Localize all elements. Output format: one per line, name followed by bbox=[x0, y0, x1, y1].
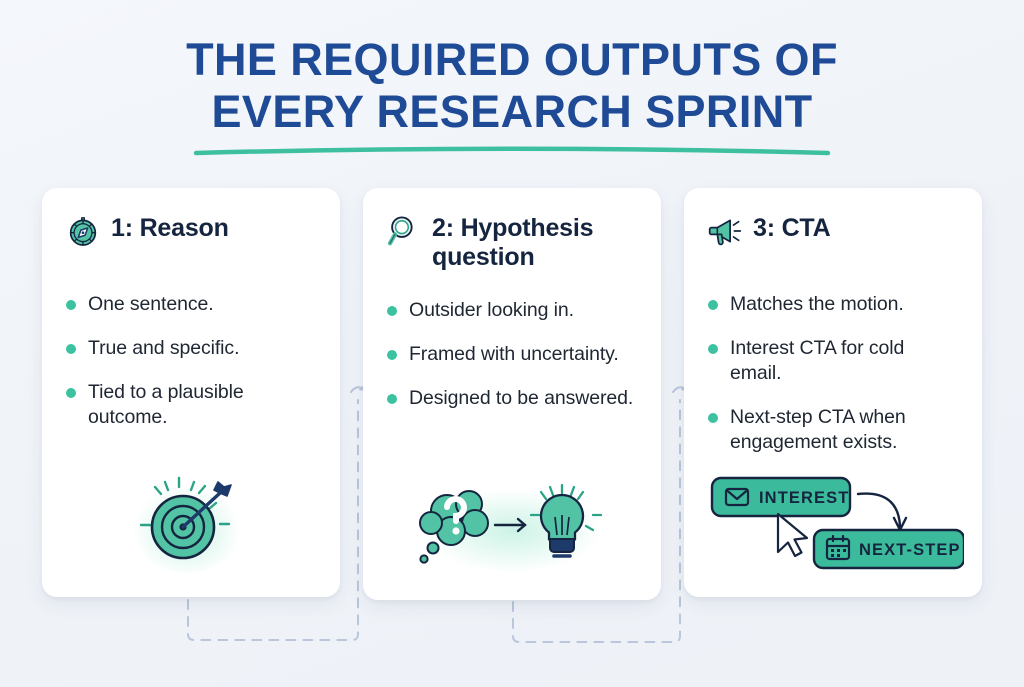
bullet-dot-icon bbox=[66, 388, 76, 398]
cards-row: 1: Reason One sentence. True and specifi… bbox=[42, 188, 982, 600]
cta-buttons-icon: INTEREST bbox=[702, 468, 964, 585]
bullet-text: Designed to be answered. bbox=[409, 386, 633, 411]
bullet-list: One sentence. True and specific. Tied to… bbox=[66, 292, 316, 430]
list-item: Tied to a plausible outcome. bbox=[66, 380, 316, 430]
cursor-icon bbox=[778, 514, 807, 556]
page-title-line-1: THE REQUIRED OUTPUTS OF bbox=[0, 34, 1024, 86]
card-reason[interactable]: 1: Reason One sentence. True and specifi… bbox=[42, 188, 340, 597]
flow-arrow-icon bbox=[858, 493, 906, 529]
bullet-dot-icon bbox=[708, 413, 718, 423]
compass-icon bbox=[66, 214, 100, 248]
card-header: 1: Reason bbox=[66, 212, 316, 266]
bullet-list: Outsider looking in. Framed with uncerta… bbox=[387, 298, 637, 411]
interest-cta-button[interactable]: INTEREST bbox=[712, 478, 850, 516]
card-hypothesis-question[interactable]: 2: Hypothesis question Outsider looking … bbox=[363, 188, 661, 600]
bullet-text: One sentence. bbox=[88, 292, 214, 317]
list-item: Outsider looking in. bbox=[387, 298, 637, 323]
list-item: One sentence. bbox=[66, 292, 316, 317]
card-title: 3: CTA bbox=[753, 212, 831, 243]
bullet-dot-icon bbox=[387, 394, 397, 404]
interest-cta-label: INTEREST bbox=[759, 489, 849, 507]
bullet-text: Next-step CTA when engagement exists. bbox=[730, 405, 958, 455]
infographic-canvas: THE REQUIRED OUTPUTS OF EVERY RESEARCH S… bbox=[0, 0, 1024, 687]
bullet-text: Framed with uncertainty. bbox=[409, 342, 619, 367]
bullet-dot-icon bbox=[387, 350, 397, 360]
megaphone-icon bbox=[708, 214, 742, 248]
title-underline-stroke bbox=[192, 144, 832, 158]
list-item: Matches the motion. bbox=[708, 292, 958, 317]
title-underline bbox=[0, 144, 1024, 160]
list-item: Framed with uncertainty. bbox=[387, 342, 637, 367]
card-header: 3: CTA bbox=[708, 212, 958, 266]
bullet-dot-icon bbox=[387, 306, 397, 316]
bullet-dot-icon bbox=[66, 344, 76, 354]
question-cloud-to-lightbulb-icon bbox=[417, 473, 607, 588]
bullet-list: Matches the motion. Interest CTA for col… bbox=[708, 292, 958, 455]
bullet-dot-icon bbox=[66, 300, 76, 310]
card-cta[interactable]: 3: CTA Matches the motion. Interest CTA … bbox=[684, 188, 982, 597]
card-illustration bbox=[42, 463, 340, 583]
magnifying-glass-icon bbox=[387, 214, 421, 248]
card-header: 2: Hypothesis question bbox=[387, 212, 637, 272]
bullet-text: Tied to a plausible outcome. bbox=[88, 380, 316, 430]
page-title-line-2: EVERY RESEARCH SPRINT bbox=[0, 86, 1024, 138]
bullet-text: Interest CTA for cold email. bbox=[730, 336, 958, 386]
list-item: Interest CTA for cold email. bbox=[708, 336, 958, 386]
next-step-cta-button[interactable]: NEXT-STEP bbox=[814, 530, 964, 568]
bullet-text: True and specific. bbox=[88, 336, 239, 361]
next-step-cta-label: NEXT-STEP bbox=[859, 541, 961, 559]
page-header: THE REQUIRED OUTPUTS OF EVERY RESEARCH S… bbox=[0, 34, 1024, 160]
card-title: 1: Reason bbox=[111, 212, 229, 243]
card-illustration: INTEREST bbox=[684, 461, 982, 591]
list-item: Next-step CTA when engagement exists. bbox=[708, 405, 958, 455]
list-item: Designed to be answered. bbox=[387, 386, 637, 411]
bullet-text: Outsider looking in. bbox=[409, 298, 574, 323]
bullet-dot-icon bbox=[708, 300, 718, 310]
card-title: 2: Hypothesis question bbox=[432, 212, 637, 272]
target-with-arrow-icon bbox=[121, 465, 261, 582]
list-item: True and specific. bbox=[66, 336, 316, 361]
bullet-text: Matches the motion. bbox=[730, 292, 904, 317]
card-illustration bbox=[363, 472, 661, 588]
bullet-dot-icon bbox=[708, 344, 718, 354]
